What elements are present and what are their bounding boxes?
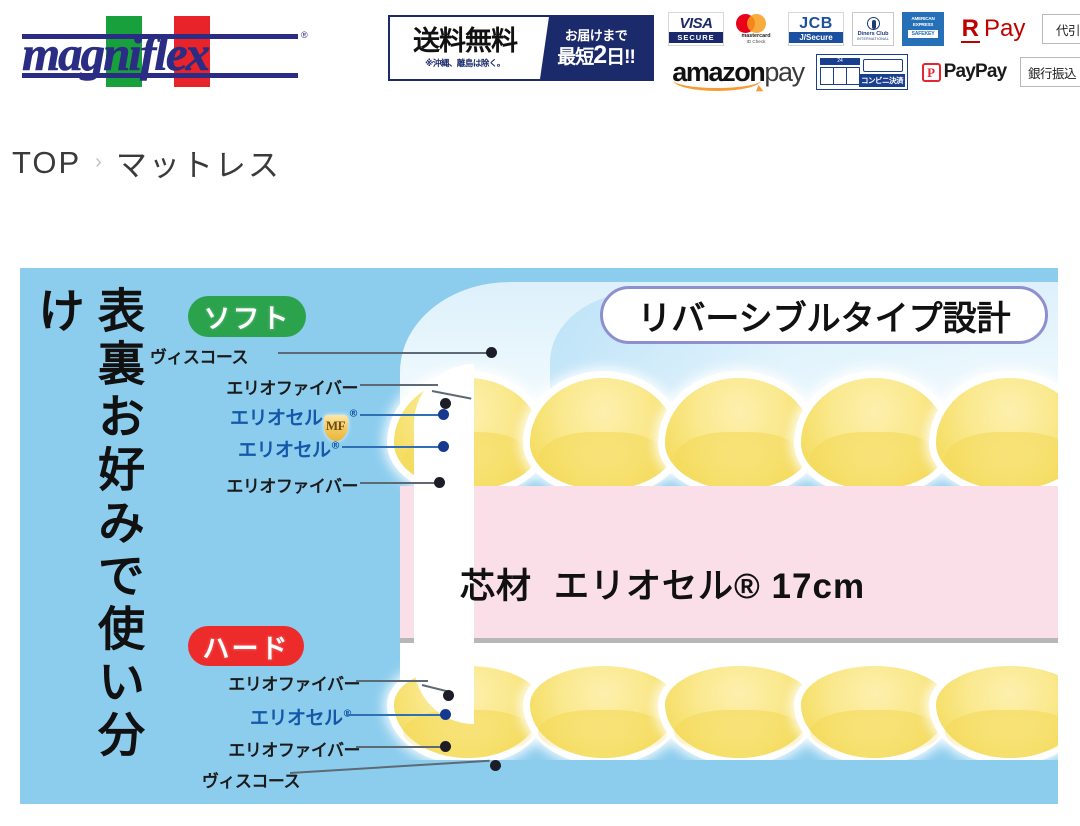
leader-dot [440, 709, 451, 720]
diners-club-badge: Diners Club INTERNATIONAL [852, 12, 894, 46]
eliocell-name: エリオセル [250, 707, 343, 729]
free-shipping-banner: 送料無料 ※沖縄、離島は除く。 お届けまで 最短2日!! [388, 15, 654, 81]
site-header: magniflex ® 送料無料 ※沖縄、離島は除く。 お届けまで 最短2日!!… [0, 0, 1080, 110]
mastercard-sub: ID Check [747, 39, 766, 44]
paypay-p-icon: P [922, 63, 941, 82]
amex-safekey-badge: AMERICAN EXPRESS SAFEKEY [902, 12, 944, 46]
registered-mark: ® [349, 409, 359, 420]
konbini-store-roof-icon: 24 [820, 58, 860, 65]
visa-secure-label: SECURE [669, 32, 723, 43]
soft-side-badge: ソフト [188, 296, 306, 337]
page-root: magniflex ® 送料無料 ※沖縄、離島は除く。 お届けまで 最短2日!!… [0, 0, 1080, 826]
rakuten-r-icon: R [961, 16, 980, 43]
foam-bump [936, 378, 1058, 490]
leader-dot [443, 690, 454, 701]
payment-row-bottom: amazonpay 24 コンビニ決済 P PayPay 銀行振込 [668, 54, 1080, 90]
free-shipping-title: 送料無料 [413, 26, 517, 56]
leader-dot [440, 741, 451, 752]
core-material-caption: 芯材エリオセル® 17cm [460, 558, 865, 609]
konbini-label: コンビニ決済 [859, 74, 905, 87]
logo-registered-mark: ® [301, 30, 308, 40]
payment-row-top: VISA SECURE mastercard ID Check JCB J/ [668, 12, 1080, 46]
reversible-type-badge: リバーシブルタイプ設計 [600, 286, 1048, 344]
bank-transfer-method-box[interactable]: 銀行振込 [1020, 57, 1080, 87]
foam-bump [936, 666, 1058, 758]
mastercard-yellow-circle [747, 14, 766, 33]
konbini-divider-2 [846, 68, 847, 84]
leader-line [346, 714, 443, 716]
diners-club-icon [867, 17, 880, 30]
paypay-label: PayPay [944, 61, 1007, 83]
breadcrumb-home-link[interactable]: TOP [12, 145, 81, 181]
leader-line [360, 482, 438, 484]
core-material-name: エリオセル® [554, 567, 761, 606]
soft-layer-label-eliocell: エリオセル® [238, 435, 340, 462]
mastercard-icon [736, 14, 776, 33]
mastercard-idcheck-badge: mastercard ID Check [732, 12, 780, 46]
konbini-store-body-icon [820, 67, 860, 85]
konbini-card-icon [863, 59, 903, 72]
hard-layer-label-eliocell: エリオセル® [250, 703, 352, 730]
registered-mark: ® [331, 441, 341, 452]
delivery-number: 2 [593, 41, 606, 69]
konbini-payment-badge: 24 コンビニ決済 [816, 54, 908, 90]
amex-sub: SAFEKEY [908, 30, 937, 38]
jcb-jsecure-badge: JCB J/Secure [788, 12, 844, 46]
delivery-prefix: 最短 [557, 47, 593, 68]
konbini-divider-1 [833, 68, 834, 84]
amazon-pay-word: pay [764, 57, 803, 87]
eliocell-mf-name: エリオセル [230, 407, 323, 429]
leader-dot [438, 441, 449, 452]
chevron-right-icon: › [95, 151, 102, 174]
eliocell-name: エリオセル [238, 439, 331, 461]
delivery-speed-block: お届けまで 最短2日!! [540, 17, 652, 79]
leader-dot [490, 760, 501, 771]
leader-dot [434, 477, 445, 488]
leader-line [360, 384, 438, 386]
cod-method-box[interactable]: 代引き [1042, 14, 1080, 44]
visa-secure-badge: VISA SECURE [668, 12, 724, 46]
diagram-vertical-catchphrase: 表裏お好みで使い分け [84, 286, 146, 796]
core-label: 芯材 [460, 567, 532, 606]
mattress-structure-diagram: 表裏お好みで使い分け [20, 268, 1058, 804]
mattress-cross-section [400, 268, 1058, 804]
leader-line [356, 680, 428, 682]
leader-line [278, 352, 490, 354]
magniflex-logo[interactable]: magniflex ® [22, 14, 312, 89]
jcb-secure-label: J/Secure [789, 32, 843, 43]
visa-label: VISA [679, 16, 712, 32]
paypay-row: P PayPay [922, 61, 1007, 83]
logo-wordmark: magniflex [22, 28, 302, 80]
hard-layer-label-fiber-1: エリオファイバー [228, 670, 360, 695]
diners-sub: INTERNATIONAL [857, 37, 889, 41]
soft-foam-bump-row [400, 378, 1058, 490]
foam-bump [665, 378, 813, 490]
leader-dot [486, 347, 497, 358]
leader-dot [440, 398, 451, 409]
breadcrumb-current: マットレス [116, 140, 281, 185]
soft-layer-label-fiber-2: エリオファイバー [226, 472, 358, 497]
konbini-roof-text: 24 [820, 58, 860, 65]
rakuten-pay-label: Pay [984, 16, 1025, 41]
amazon-pay-badge: amazonpay [668, 54, 808, 90]
breadcrumb: TOP › マットレス [12, 140, 281, 185]
free-shipping-note: ※沖縄、離島は除く。 [425, 57, 505, 69]
rakuten-pay-badge: R Pay [952, 13, 1034, 45]
hard-layer-label-fiber-2: エリオファイバー [228, 736, 360, 761]
soft-layer-label-fiber-1: エリオファイバー [226, 374, 358, 399]
foam-bump [530, 666, 678, 758]
foam-bump [665, 666, 813, 758]
soft-layer-label-viscose: ヴィスコース [150, 343, 248, 368]
leader-dot [438, 409, 449, 420]
delivery-suffix: 日!! [606, 47, 635, 68]
delivery-speed-line2: 最短2日!! [557, 44, 635, 69]
payment-methods: VISA SECURE mastercard ID Check JCB J/ [668, 12, 1068, 90]
foam-bump [530, 378, 678, 490]
rakuten-pay-row: R Pay [961, 16, 1026, 43]
foam-bump [801, 378, 949, 490]
hard-side-badge: ハード [188, 626, 304, 666]
paypay-badge: P PayPay [916, 57, 1012, 87]
foam-bump [801, 666, 949, 758]
leader-line [360, 414, 440, 416]
hard-foam-bump-row [400, 666, 1058, 758]
leader-line [342, 446, 440, 448]
hard-layer-label-viscose: ヴィスコース [202, 767, 300, 792]
amex-name: AMERICAN EXPRESS [902, 16, 944, 27]
core-thickness: 17cm [772, 567, 866, 606]
amazon-smile-icon [673, 80, 761, 91]
free-shipping-left: 送料無料 ※沖縄、離島は除く。 [390, 17, 540, 79]
mastercard-caption: mastercard ID Check [741, 33, 770, 45]
leader-line [356, 746, 442, 748]
jcb-label: JCB [799, 15, 833, 32]
